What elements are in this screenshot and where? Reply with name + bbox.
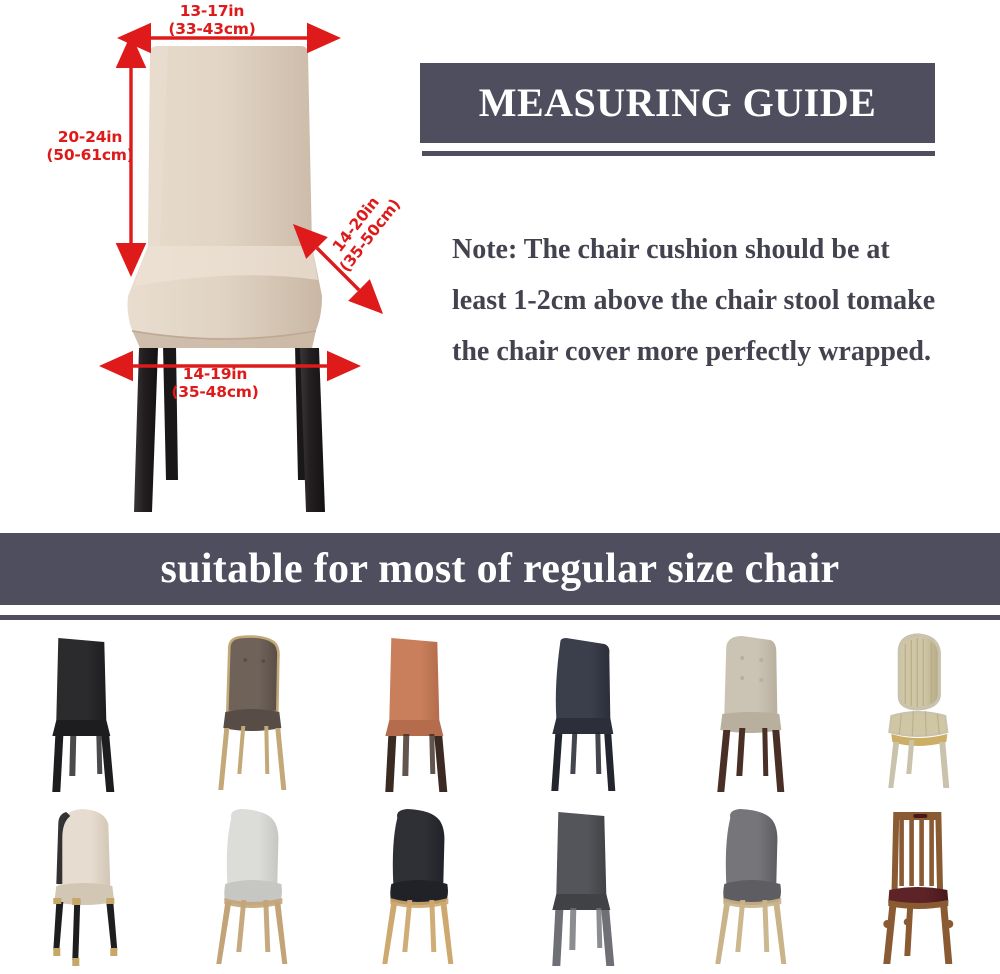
chair-charcoal-oak-shell: [333, 798, 500, 970]
chair-navy-leather: [500, 624, 667, 796]
banner-underline-rule: [0, 614, 1000, 621]
measuring-guide-text-panel: MEASURING GUIDE Note: The chair cushion …: [420, 0, 1000, 533]
chair-striped-french-gilt: [833, 624, 1000, 796]
dimension-label-backrest-width: 13-17in (33-43cm): [122, 2, 302, 38]
gallery-row: [0, 798, 1000, 970]
chair-measurement-diagram: 13-17in (33-43cm) 20-24in (50-61cm) 14-2…: [0, 0, 420, 533]
measuring-note-text: Note: The chair cushion should be at lea…: [452, 224, 942, 377]
header-underline-rule: [422, 150, 935, 157]
measuring-guide-header: MEASURING GUIDE: [420, 63, 935, 143]
dimension-value-inches: 20-24in: [58, 128, 123, 146]
dimension-value-inches: 13-17in: [180, 2, 245, 20]
compatible-chairs-gallery: [0, 624, 1000, 974]
measuring-guide-section: 13-17in (33-43cm) 20-24in (50-61cm) 14-2…: [0, 0, 1000, 533]
dimension-label-seat-width: 14-19in (35-48cm): [120, 365, 310, 401]
dimension-label-backrest-height: 20-24in (50-61cm): [35, 128, 145, 164]
dimension-value-cm: (33-43cm): [168, 20, 255, 38]
dimension-value-cm: (35-48cm): [171, 383, 258, 401]
chair-taupe-tufted-gold: [167, 624, 334, 796]
chair-tan-leather-wood: [333, 624, 500, 796]
dimension-value-inches: 14-19in: [183, 365, 248, 383]
chair-beige-tufted-walnut: [666, 624, 833, 796]
chair-grey-tall-fabric: [500, 798, 667, 970]
chair-cream-black-gold: [0, 798, 167, 970]
chair-boucle-oak: [167, 798, 334, 970]
chair-black-highback: [0, 624, 167, 796]
chair-walnut-slat-burgundy: [833, 798, 1000, 970]
chair-grey-velvet-lightwood: [666, 798, 833, 970]
suitability-banner: suitable for most of regular size chair: [0, 533, 1000, 605]
gallery-row: [0, 624, 1000, 796]
page-title: MEASURING GUIDE: [479, 83, 877, 123]
dimension-value-cm: (50-61cm): [46, 146, 133, 164]
suitability-banner-text: suitable for most of regular size chair: [161, 548, 840, 590]
